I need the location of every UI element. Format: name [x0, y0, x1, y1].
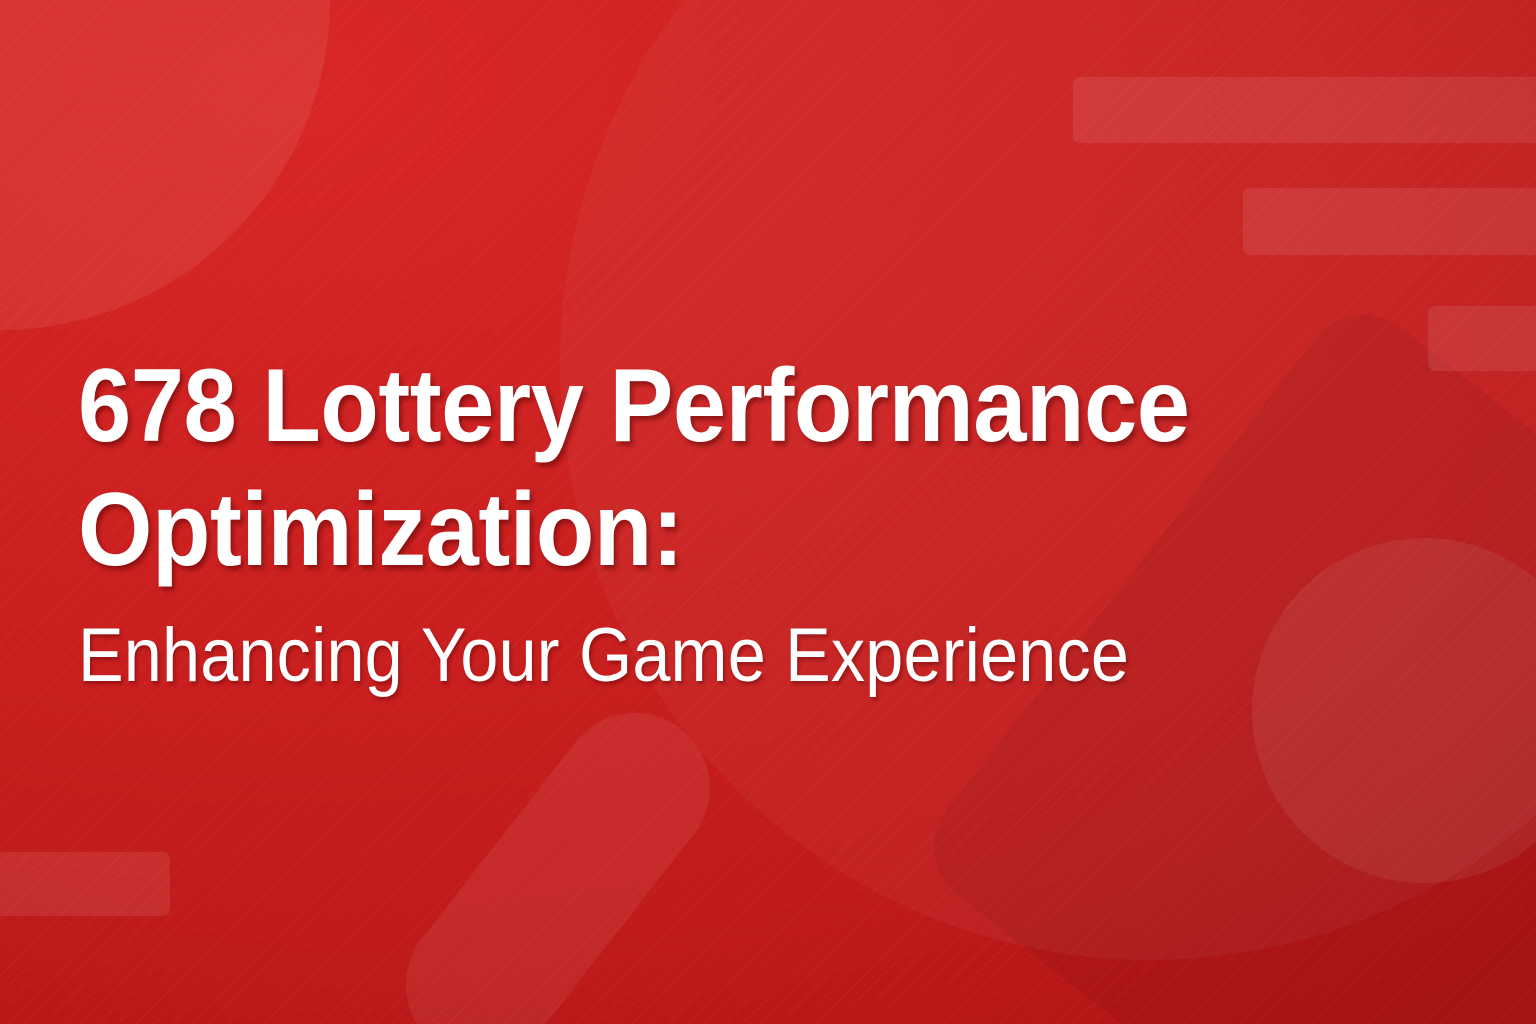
banner-text-block: 678 Lottery Performance Optimization: En…	[78, 344, 1358, 698]
page-subtitle: Enhancing Your Game Experience	[78, 592, 1230, 698]
page-title-line-2: Optimization:	[78, 468, 1256, 592]
page-title: 678 Lottery Performance Optimization:	[78, 344, 1256, 592]
bottom-left-bar	[0, 852, 170, 916]
page-title-line-1: 678 Lottery Performance	[78, 344, 1256, 468]
banner-canvas: 678 Lottery Performance Optimization: En…	[0, 0, 1536, 1024]
top-bar-1	[1073, 77, 1536, 143]
top-bar-2	[1243, 188, 1536, 255]
top-bar-3	[1428, 306, 1536, 371]
